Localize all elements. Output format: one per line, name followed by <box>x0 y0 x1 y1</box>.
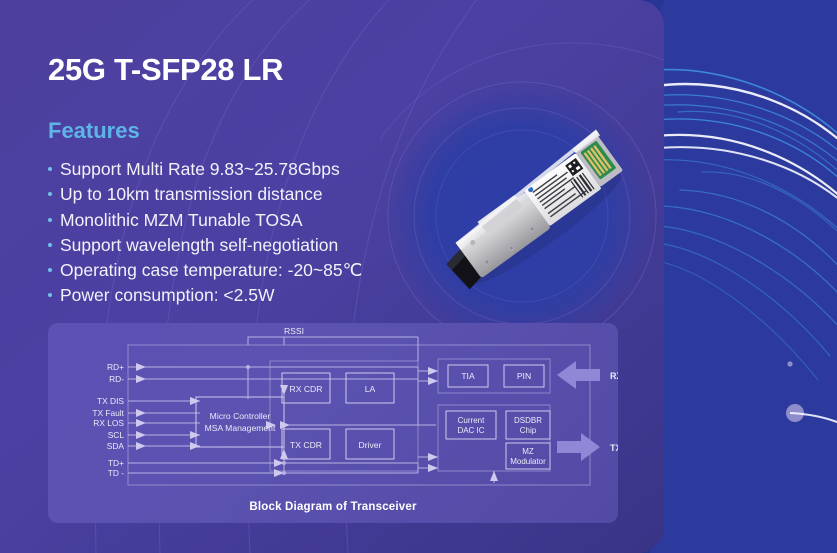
block-label-driver: Driver <box>359 440 382 450</box>
pin-label: SDA <box>107 441 125 451</box>
bullet-icon <box>48 243 52 247</box>
tx-arrow-label: TX <box>610 443 618 453</box>
bullet-icon <box>48 218 52 222</box>
block-label-mz-line2: Modulator <box>510 457 546 466</box>
features-heading: Features <box>48 118 140 144</box>
block-label-rx-cdr: RX CDR <box>290 384 323 394</box>
pin-label: RD- <box>109 374 124 384</box>
list-item: Monolithic MZM Tunable TOSA <box>48 208 362 233</box>
pin-label: TD - <box>108 468 124 478</box>
page-title: 25G T-SFP28 LR <box>48 52 283 88</box>
rx-arrow-label: RX <box>610 371 618 381</box>
block-label-tx-cdr: TX CDR <box>290 440 322 450</box>
feature-text: Up to 10km transmission distance <box>60 182 323 207</box>
block-label-dac-line2: DAC IC <box>457 426 484 435</box>
block-label-dsdbr-line1: DSDBR <box>514 416 542 425</box>
list-item: Up to 10km transmission distance <box>48 182 362 207</box>
feature-text: Support Multi Rate 9.83~25.78Gbps <box>60 157 340 182</box>
feature-text: Operating case temperature: -20~85℃ <box>60 258 362 283</box>
product-image <box>430 120 645 315</box>
block-label-la: LA <box>365 384 376 394</box>
feature-text: Support wavelength self-negotiation <box>60 233 338 258</box>
transceiver-module-graphic <box>430 120 645 315</box>
block-label-dsdbr-line2: Chip <box>520 426 537 435</box>
block-label-mz-line1: MZ <box>522 447 534 456</box>
rssi-label: RSSI <box>284 326 304 336</box>
bullet-icon <box>48 192 52 196</box>
bullet-icon <box>48 167 52 171</box>
pin-label: RD+ <box>107 362 124 372</box>
main-card: 25G T-SFP28 LR Features Support Multi Ra… <box>0 0 664 553</box>
feature-text: Power consumption: <2.5W <box>60 283 274 308</box>
decorative-arc-panel <box>650 0 837 553</box>
block-diagram-panel: RD+ RD- TX DIS TX Fault RX LOS SCL SDA T… <box>48 323 618 523</box>
pin-label: TX Fault <box>92 408 124 418</box>
feature-text: Monolithic MZM Tunable TOSA <box>60 208 303 233</box>
rx-arrow-icon <box>557 361 600 389</box>
pin-label: RX LOS <box>93 418 124 428</box>
list-item: Power consumption: <2.5W <box>48 283 362 308</box>
pin-label: SCL <box>108 430 125 440</box>
list-item: Support Multi Rate 9.83~25.78Gbps <box>48 157 362 182</box>
slide-canvas: 25G T-SFP28 LR Features Support Multi Ra… <box>0 0 837 553</box>
controller-label-line2: MSA Management <box>205 423 276 433</box>
block-diagram-graphic: RD+ RD- TX DIS TX Fault RX LOS SCL SDA T… <box>48 323 618 523</box>
features-list: Support Multi Rate 9.83~25.78Gbps Up to … <box>48 157 362 309</box>
block-label-pin: PIN <box>517 371 531 381</box>
controller-label-line1: Micro Controller <box>210 411 271 421</box>
bullet-icon <box>48 268 52 272</box>
pin-label: TX DIS <box>97 396 124 406</box>
list-item: Support wavelength self-negotiation <box>48 233 362 258</box>
pin-label: TD+ <box>108 458 124 468</box>
bullet-icon <box>48 293 52 297</box>
decorative-dot-small <box>787 361 792 366</box>
diagram-caption: Block Diagram of Transceiver <box>48 501 618 513</box>
block-label-tia: TIA <box>461 371 475 381</box>
tx-arrow-icon <box>557 433 600 461</box>
block-label-dac-line1: Current <box>458 416 485 425</box>
list-item: Operating case temperature: -20~85℃ <box>48 258 362 283</box>
arc-graphic <box>650 0 837 553</box>
